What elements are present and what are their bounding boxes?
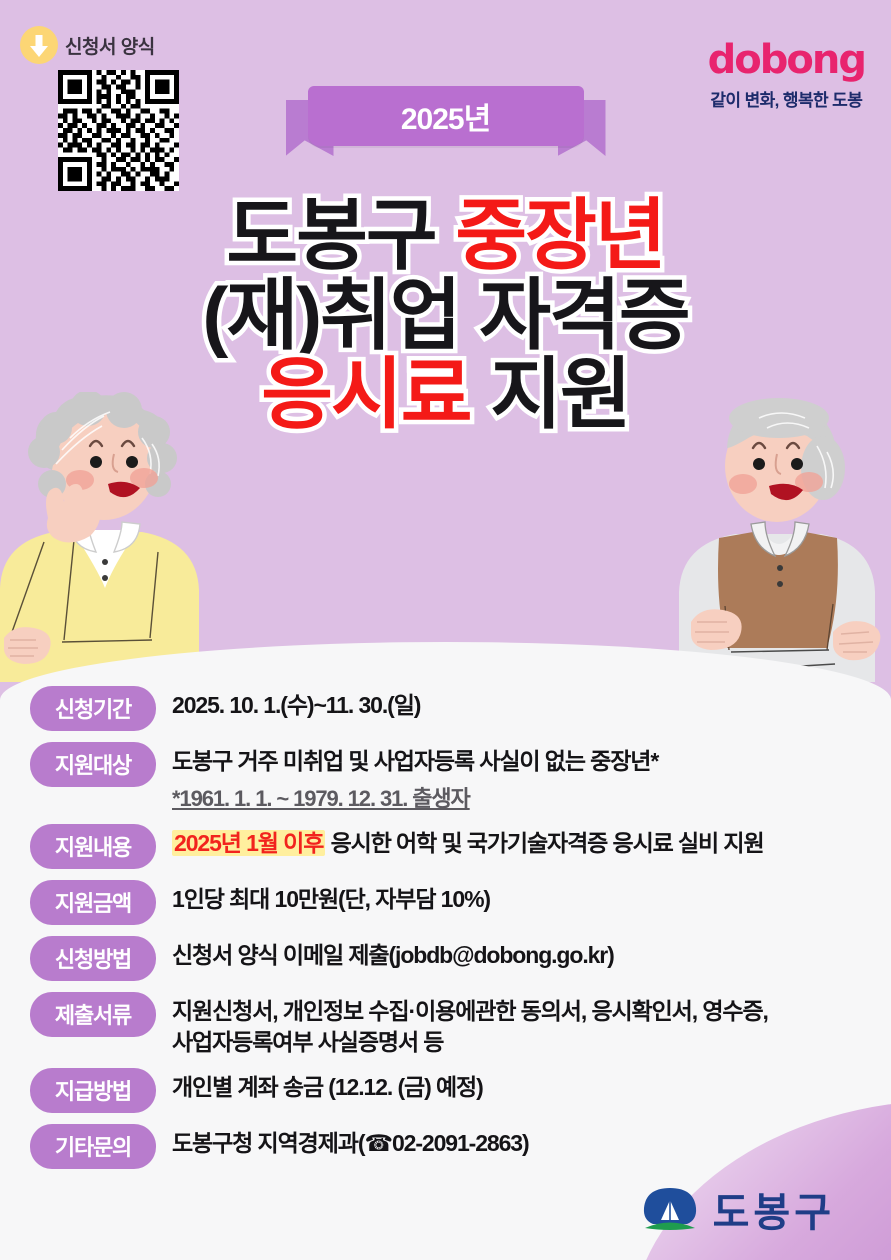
info-value-application-method[interactable]: 신청서 양식 이메일 제출(jobdb@dobong.go.kr) <box>172 940 873 970</box>
info-list: 신청기간 2025. 10. 1.(수)~11. 30.(일) 지원대상 도봉구… <box>30 686 873 1180</box>
qr-block[interactable]: 신청서 양식 <box>20 26 190 196</box>
info-value-required-documents-line1: 지원신청서, 개인정보 수집·이용에관한 동의서, 응시확인서, 영수증, <box>172 996 873 1026</box>
info-value-support-amount: 1인당 최대 10만원(단, 자부담 10%) <box>172 884 873 914</box>
info-value-wrapper: 도봉구청 지역경제과(☎02-2091-2863) <box>172 1124 873 1158</box>
dobong-gu-logo-text: 도봉구 <box>713 1180 835 1238</box>
info-label-required-documents: 제출서류 <box>30 992 156 1037</box>
info-row-application-period: 신청기간 2025. 10. 1.(수)~11. 30.(일) <box>30 686 873 731</box>
title-line-1: 도봉구 중장년 <box>0 196 891 276</box>
info-value-wrapper: 1인당 최대 10만원(단, 자부담 10%) <box>172 880 873 914</box>
title-line-1-red: 중장년 <box>455 191 664 279</box>
info-row-contact: 기타문의 도봉구청 지역경제과(☎02-2091-2863) <box>30 1124 873 1169</box>
qr-label: 신청서 양식 <box>65 32 155 59</box>
info-value-required-documents-line2: 사업자등록여부 사실증명서 등 <box>172 1027 873 1057</box>
down-arrow-icon <box>20 26 58 64</box>
info-value-wrapper: 2025년 1월 이후 응시한 어학 및 국가기술자격증 응시료 실비 지원 <box>172 824 873 858</box>
poster-canvas: 신청서 양식 <box>0 0 891 1260</box>
poster-header: 신청서 양식 <box>0 0 891 700</box>
info-label-eligibility: 지원대상 <box>30 742 156 787</box>
info-row-eligibility: 지원대상 도봉구 거주 미취업 및 사업자등록 사실이 없는 중장년* *196… <box>30 742 873 813</box>
info-value-application-period: 2025. 10. 1.(수)~11. 30.(일) <box>172 690 873 720</box>
info-value-contact[interactable]: 도봉구청 지역경제과(☎02-2091-2863) <box>172 1128 873 1158</box>
dobong-gu-footer-logo: 도봉구 <box>639 1180 835 1238</box>
info-label-payment-method: 지급방법 <box>30 1068 156 1113</box>
title-line-3-black: 지원 <box>471 350 630 438</box>
info-row-support-content: 지원내용 2025년 1월 이후 응시한 어학 및 국가기술자격증 응시료 실비… <box>30 824 873 869</box>
info-value-wrapper: 2025. 10. 1.(수)~11. 30.(일) <box>172 686 873 720</box>
info-value-wrapper: 신청서 양식 이메일 제출(jobdb@dobong.go.kr) <box>172 936 873 970</box>
info-value-wrapper: 개인별 계좌 송금 (12.12. (금) 예정) <box>172 1068 873 1102</box>
info-row-support-amount: 지원금액 1인당 최대 10만원(단, 자부담 10%) <box>30 880 873 925</box>
dobong-brand-logo: dobong 같이 변화, 행복한 도봉 <box>708 40 865 111</box>
info-value-payment-method: 개인별 계좌 송금 (12.12. (금) 예정) <box>172 1072 873 1102</box>
info-label-support-amount: 지원금액 <box>30 880 156 925</box>
info-label-contact: 기타문의 <box>30 1124 156 1169</box>
ribbon-year-text: 2025년 <box>401 94 490 138</box>
info-value-support-content: 2025년 1월 이후 응시한 어학 및 국가기술자격증 응시료 실비 지원 <box>172 828 873 858</box>
info-value-support-content-rest: 응시한 어학 및 국가기술자격증 응시료 실비 지원 <box>325 830 763 856</box>
title-line-2: (재)취업 자격증 <box>0 276 891 356</box>
info-label-application-period: 신청기간 <box>30 686 156 731</box>
title-line-1-black: 도봉구 <box>226 191 455 279</box>
info-row-required-documents: 제출서류 지원신청서, 개인정보 수집·이용에관한 동의서, 응시확인서, 영수… <box>30 992 873 1057</box>
info-panel: 신청기간 2025. 10. 1.(수)~11. 30.(일) 지원대상 도봉구… <box>0 642 891 1260</box>
info-value-wrapper: 도봉구 거주 미취업 및 사업자등록 사실이 없는 중장년* *1961. 1.… <box>172 742 873 813</box>
info-row-payment-method: 지급방법 개인별 계좌 송금 (12.12. (금) 예정) <box>30 1068 873 1113</box>
title-line-2-black: (재)취업 자격증 <box>202 271 688 359</box>
info-label-application-method: 신청방법 <box>30 936 156 981</box>
dobong-wordmark: dobong <box>708 40 865 80</box>
elderly-man-illustration <box>657 392 891 682</box>
info-value-wrapper: 지원신청서, 개인정보 수집·이용에관한 동의서, 응시확인서, 영수증, 사업… <box>172 992 873 1057</box>
info-value-eligibility: 도봉구 거주 미취업 및 사업자등록 사실이 없는 중장년* <box>172 746 873 776</box>
dobong-slogan: 같이 변화, 행복한 도봉 <box>708 86 865 111</box>
qr-header: 신청서 양식 <box>20 26 190 64</box>
elderly-woman-illustration <box>0 392 232 682</box>
info-note-birthdate-range: *1961. 1. 1. ~ 1979. 12. 31. 출생자 <box>172 781 873 813</box>
dobong-mountain-icon <box>639 1186 701 1232</box>
info-label-support-content: 지원내용 <box>30 824 156 869</box>
year-ribbon: 2025년 <box>286 86 606 158</box>
info-row-application-method: 신청방법 신청서 양식 이메일 제출(jobdb@dobong.go.kr) <box>30 936 873 981</box>
ribbon-body: 2025년 <box>308 86 584 146</box>
qr-code-image[interactable] <box>58 70 190 196</box>
highlight-since-jan-2025: 2025년 1월 이후 <box>172 830 325 856</box>
title-line-3-red: 응시료 <box>261 350 470 438</box>
